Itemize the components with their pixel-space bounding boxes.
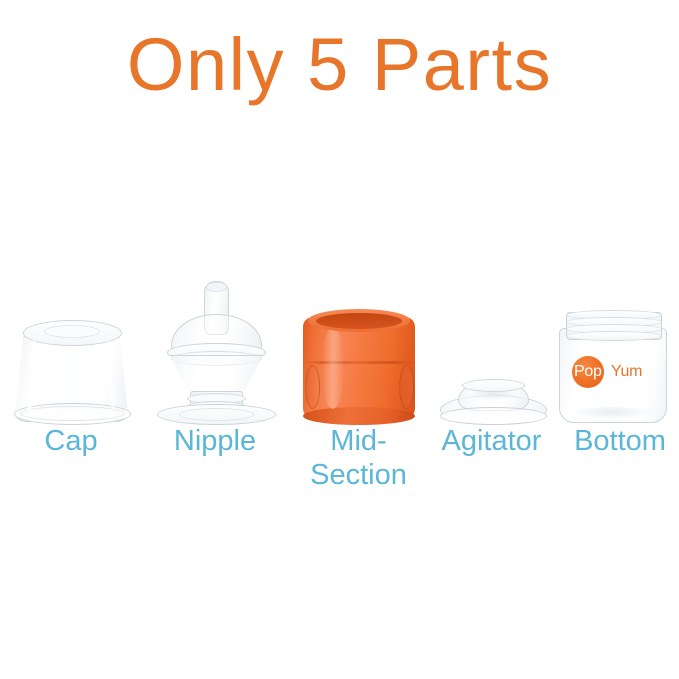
- logo-text-pop: Pop: [574, 363, 614, 380]
- label-bottom: Bottom: [556, 424, 679, 458]
- nipple-teat-tip: [206, 282, 227, 292]
- mid-section-grip-left: [305, 365, 320, 409]
- agitator-base-rim: [440, 407, 547, 425]
- page-title: Only 5 Parts: [0, 22, 679, 108]
- mid-section-bottom-rim: [303, 407, 415, 425]
- parts-row: Pop Yum: [0, 275, 679, 425]
- mid-section-seam: [304, 361, 414, 364]
- cap-inner-rim: [20, 406, 125, 421]
- part-bottom: Pop Yum: [558, 310, 668, 425]
- logo-text-yum: Yum: [611, 363, 642, 380]
- label-cap: Cap: [6, 424, 136, 458]
- part-agitator: [440, 377, 545, 425]
- label-agitator: Agitator: [424, 424, 559, 458]
- product-parts-infographic: Only 5 Parts: [0, 0, 679, 679]
- label-mid-section-line1: Mid-: [330, 425, 386, 457]
- label-mid-section-line2: Section: [310, 459, 407, 491]
- nipple-flange-inner-ring: [179, 408, 254, 421]
- part-cap: [14, 312, 129, 425]
- bottom-jar-inner-base: [572, 407, 654, 419]
- label-mid-section: Mid- Section: [292, 424, 425, 492]
- part-nipple: [157, 281, 274, 425]
- mid-section-opening: [316, 313, 402, 329]
- bottom-thread-4: [566, 331, 662, 341]
- part-mid-section: [300, 307, 418, 425]
- cap-top-inner-ring: [44, 325, 100, 338]
- label-nipple: Nipple: [150, 424, 280, 458]
- popyum-logo: Pop Yum: [572, 356, 654, 388]
- mid-section-highlight: [322, 327, 344, 409]
- mid-section-body: [303, 317, 415, 421]
- mid-section-grip-right: [399, 365, 414, 409]
- agitator-top-rim: [462, 379, 525, 392]
